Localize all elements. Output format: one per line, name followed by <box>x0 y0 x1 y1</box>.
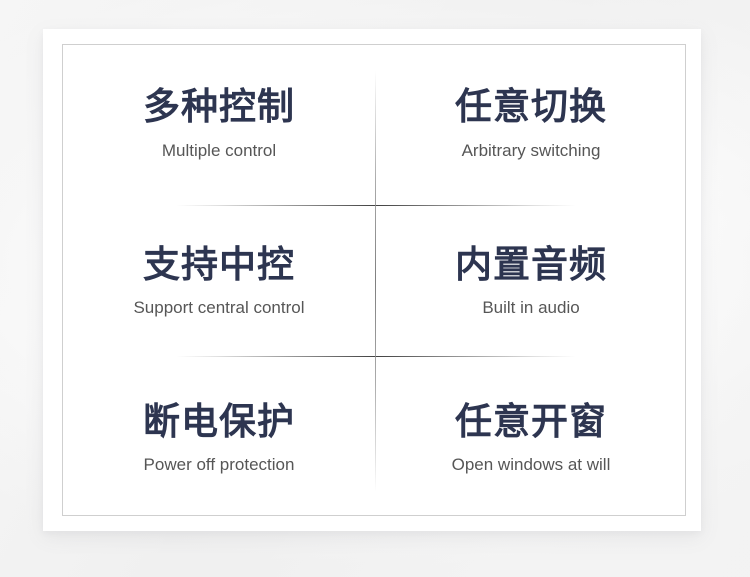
feature-card: 多种控制 Multiple control 任意切换 Arbitrary swi… <box>43 29 701 531</box>
feature-subtitle: Multiple control <box>162 141 276 161</box>
feature-cell-multiple-control: 多种控制 Multiple control <box>63 45 375 202</box>
feature-cell-open-windows-at-will: 任意开窗 Open windows at will <box>375 360 687 517</box>
feature-cell-power-off-protection: 断电保护 Power off protection <box>63 360 375 517</box>
feature-title: 多种控制 <box>143 86 295 127</box>
feature-cell-support-central-control: 支持中控 Support central control <box>63 202 375 359</box>
feature-cell-built-in-audio: 内置音频 Built in audio <box>375 202 687 359</box>
feature-subtitle: Support central control <box>133 298 304 318</box>
feature-subtitle: Built in audio <box>482 298 579 318</box>
feature-subtitle: Open windows at will <box>452 455 611 475</box>
feature-title: 任意开窗 <box>455 401 607 442</box>
feature-title: 任意切换 <box>455 86 607 127</box>
card-inner-border: 多种控制 Multiple control 任意切换 Arbitrary swi… <box>62 44 686 516</box>
feature-subtitle: Arbitrary switching <box>462 141 601 161</box>
feature-title: 内置音频 <box>455 244 607 285</box>
feature-title: 支持中控 <box>143 244 295 285</box>
feature-cell-arbitrary-switching: 任意切换 Arbitrary switching <box>375 45 687 202</box>
page-background: 多种控制 Multiple control 任意切换 Arbitrary swi… <box>0 0 750 577</box>
feature-subtitle: Power off protection <box>144 455 295 475</box>
feature-grid: 多种控制 Multiple control 任意切换 Arbitrary swi… <box>63 45 687 517</box>
feature-title: 断电保护 <box>143 401 295 442</box>
